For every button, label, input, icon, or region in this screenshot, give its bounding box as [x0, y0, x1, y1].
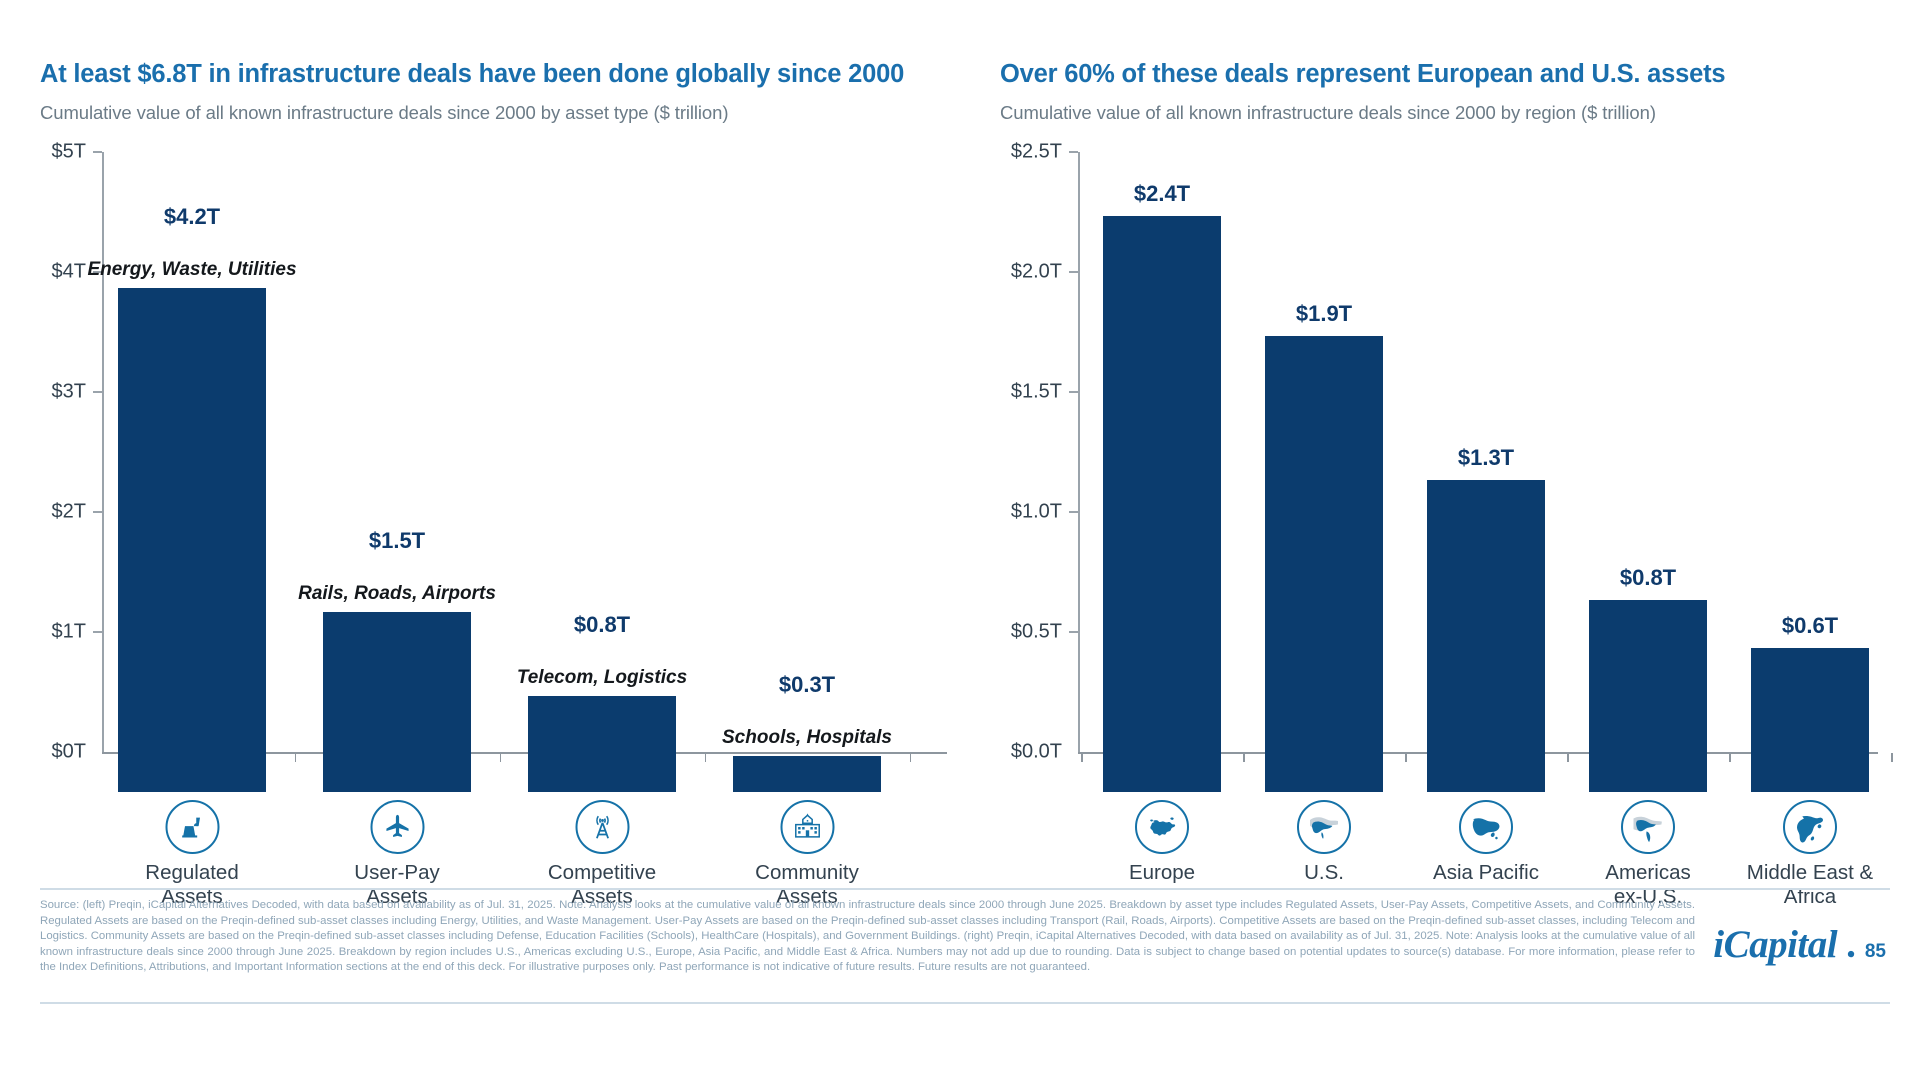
bar: [323, 612, 471, 792]
bar-annotation: Telecom, Logistics: [517, 667, 687, 688]
bar-value-label: $4.2T: [164, 204, 220, 230]
bar-value-label: $0.8T: [1620, 565, 1676, 591]
bar-value-label: $1.5T: [369, 528, 425, 554]
category-2: User-Pay Assets: [298, 800, 497, 909]
left-bars: Energy, Waste, Utilities$4.2TRails, Road…: [40, 152, 970, 792]
bar-value-label: $2.4T: [1134, 181, 1190, 207]
bar: [733, 756, 881, 792]
footnote-text: Source: (left) Preqin, iCapital Alternat…: [40, 898, 1695, 976]
category-label: Asia Pacific: [1408, 861, 1564, 885]
right-chart-panel: Over 60% of these deals represent Europe…: [1000, 60, 1890, 880]
bar: [1265, 336, 1383, 792]
slide: At least $6.8T in infrastructure deals h…: [0, 0, 1920, 1080]
airplane-icon: [370, 800, 424, 854]
category-4: Community Assets: [708, 800, 907, 909]
bar-annotation: Rails, Roads, Airports: [298, 583, 496, 604]
bar-group: $0.6T: [1751, 192, 1869, 792]
bar-group: Energy, Waste, Utilities$4.2T: [118, 192, 266, 792]
map-north-america-icon: [1297, 800, 1351, 854]
category-label: U.S.: [1246, 861, 1402, 885]
left-plot-area: $0T$1T$2T$3T$4T$5T Energy, Waste, Utilit…: [40, 152, 970, 792]
map-africa-middle-east-icon: [1783, 800, 1837, 854]
bar: [1103, 216, 1221, 792]
bar-group: $1.9T: [1265, 192, 1383, 792]
bar: [1751, 648, 1869, 792]
map-europe-icon: [1135, 800, 1189, 854]
right-chart-subtitle: Cumulative value of all known infrastruc…: [1000, 102, 1890, 124]
right-bars: $2.4T$1.9T$1.3T$0.8T$0.6T: [1000, 152, 1890, 792]
bar-value-label: $0.3T: [779, 672, 835, 698]
right-chart-title: Over 60% of these deals represent Europe…: [1000, 60, 1890, 89]
school-building-icon: [780, 800, 834, 854]
power-plant-icon: [165, 800, 219, 854]
radio-tower-icon: [575, 800, 629, 854]
bar: [1589, 600, 1707, 792]
bar-value-label: $1.9T: [1296, 301, 1352, 327]
brand-dot: .: [1846, 922, 1856, 967]
category-2: U.S.: [1246, 800, 1402, 885]
bar: [1427, 480, 1545, 792]
bar-value-label: $0.6T: [1782, 613, 1838, 639]
footer-divider-top: [40, 888, 1890, 890]
brand-logo: iCapital . 85: [1713, 922, 1886, 967]
category-3: Competitive Assets: [503, 800, 702, 909]
bar-annotation: Schools, Hospitals: [722, 727, 892, 748]
bar: [118, 288, 266, 792]
brand-name: iCapital: [1713, 922, 1837, 967]
bar-value-label: $1.3T: [1458, 445, 1514, 471]
map-asia-pacific-icon: [1459, 800, 1513, 854]
category-label: Middle East & Africa: [1732, 861, 1888, 909]
bar-group: $2.4T: [1103, 192, 1221, 792]
map-americas-icon: [1621, 800, 1675, 854]
page-number: 85: [1865, 941, 1886, 963]
category-1: Regulated Assets: [93, 800, 292, 909]
bar: [528, 696, 676, 792]
left-chart-panel: At least $6.8T in infrastructure deals h…: [40, 60, 970, 880]
bar-value-label: $0.8T: [574, 612, 630, 638]
category-label: Europe: [1084, 861, 1240, 885]
bar-group: Rails, Roads, Airports$1.5T: [323, 192, 471, 792]
left-chart-title: At least $6.8T in infrastructure deals h…: [40, 60, 970, 89]
x-axis-tick: [1891, 753, 1893, 762]
footer-divider-bottom: [40, 1002, 1890, 1004]
bar-group: $1.3T: [1427, 192, 1545, 792]
bar-group: Telecom, Logistics$0.8T: [528, 192, 676, 792]
category-4: Americas ex-U.S.: [1570, 800, 1726, 909]
bar-group: $0.8T: [1589, 192, 1707, 792]
left-chart-subtitle: Cumulative value of all known infrastruc…: [40, 102, 970, 124]
category-1: Europe: [1084, 800, 1240, 885]
category-3: Asia Pacific: [1408, 800, 1564, 885]
bar-group: Schools, Hospitals$0.3T: [733, 192, 881, 792]
right-plot-area: $0.0T$0.5T$1.0T$1.5T$2.0T$2.5T $2.4T$1.9…: [1000, 152, 1890, 792]
category-5: Middle East & Africa: [1732, 800, 1888, 909]
bar-annotation: Energy, Waste, Utilities: [87, 259, 296, 280]
